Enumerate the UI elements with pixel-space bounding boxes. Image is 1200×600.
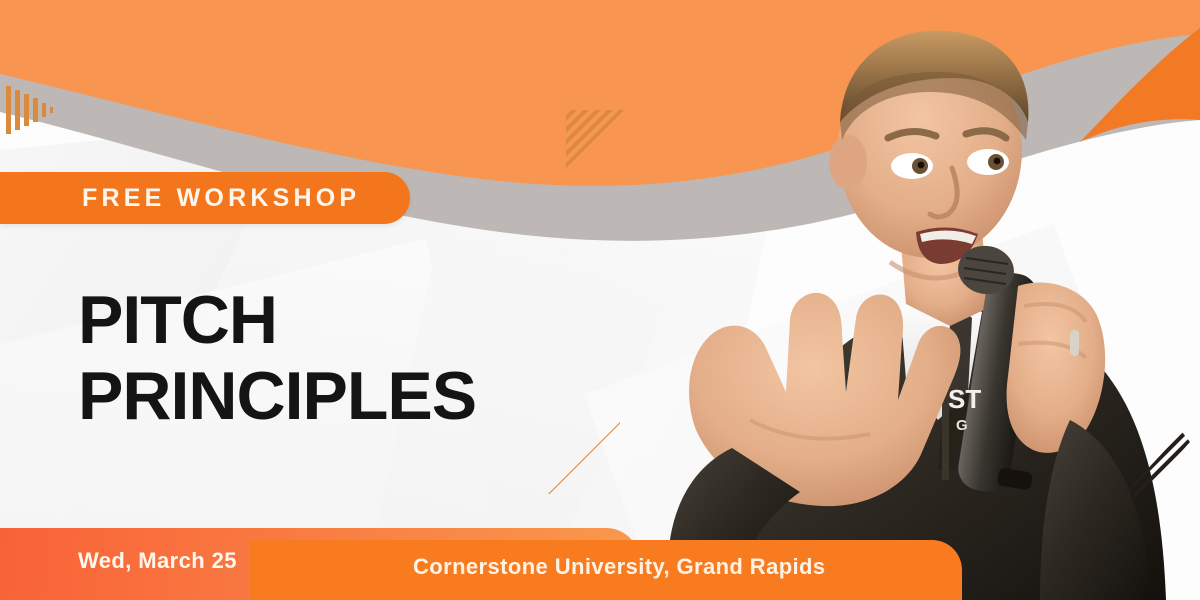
free-workshop-badge[interactable]: FREE WORKSHOP xyxy=(0,172,410,224)
striped-triangle-left-top-icon xyxy=(4,84,60,136)
speaker-photo: ST G xyxy=(600,0,1200,600)
svg-text:G: G xyxy=(956,417,968,434)
jacket-logo: ST xyxy=(948,384,981,414)
page-title: PITCH PRINCIPLES xyxy=(78,282,476,434)
title-line-1: PITCH xyxy=(78,282,476,358)
event-banner: ST G FREE WORKSHOP PITCH PRINCIPLES Wed,… xyxy=(0,0,1200,600)
badge-label: FREE WORKSHOP xyxy=(82,184,360,213)
event-date: Wed, March 25 xyxy=(78,548,237,574)
striped-triangle-right-edge-icon xyxy=(1128,432,1192,504)
title-line-2: PRINCIPLES xyxy=(78,358,476,434)
event-venue: Cornerstone University, Grand Rapids xyxy=(413,554,826,580)
